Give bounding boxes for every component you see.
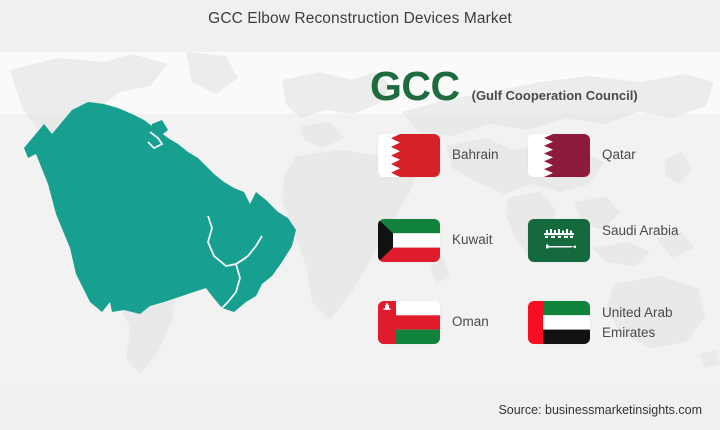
kuwait-flag-icon — [378, 219, 440, 262]
saudi-arabia-flag-icon — [528, 219, 590, 262]
source-attribution: Source: businessmarketinsights.com — [498, 403, 702, 417]
united-arab-emirates-flag-icon — [528, 301, 590, 344]
gcc-heading: GCC (Gulf Cooperation Council) — [370, 66, 638, 107]
bahrain-flag-icon — [378, 134, 440, 177]
member-item-saudi-arabia[interactable]: Saudi Arabia — [528, 219, 708, 301]
page-title: GCC Elbow Reconstruction Devices Market — [0, 10, 720, 28]
member-label-bahrain: Bahrain — [452, 134, 499, 165]
member-label-kuwait: Kuwait — [452, 219, 493, 250]
gcc-market-infographic: GCC Elbow Reconstruction Devices Market … — [0, 0, 720, 430]
qatar-flag-icon — [528, 134, 590, 177]
gcc-expansion: (Gulf Cooperation Council) — [472, 88, 638, 103]
arabian-peninsula-highlight-icon — [0, 96, 340, 366]
member-label-oman: Oman — [452, 301, 489, 332]
gcc-abbreviation: GCC — [370, 66, 460, 107]
oman-flag-icon — [378, 301, 440, 344]
member-label-united-arab-emirates: United Arab Emirates — [602, 301, 698, 342]
member-label-saudi-arabia: Saudi Arabia — [602, 219, 679, 241]
member-item-bahrain[interactable]: Bahrain — [378, 134, 528, 219]
member-label-qatar: Qatar — [602, 134, 636, 165]
member-item-united-arab-emirates[interactable]: United Arab Emirates — [528, 301, 708, 381]
member-item-qatar[interactable]: Qatar — [528, 134, 708, 219]
member-item-kuwait[interactable]: Kuwait — [378, 219, 528, 301]
gcc-member-grid: Bahrain Qatar K — [378, 134, 708, 381]
member-item-oman[interactable]: Oman — [378, 301, 528, 381]
